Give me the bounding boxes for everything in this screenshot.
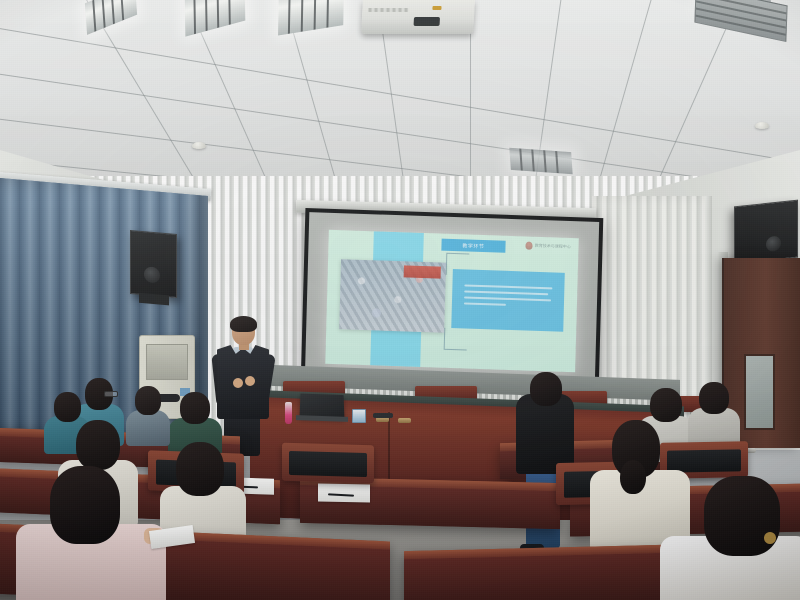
projector-indicator-light: [432, 6, 441, 10]
attendee-head: [704, 476, 780, 556]
podium-knob[interactable]: [398, 418, 411, 423]
speaker-cone: [144, 266, 160, 283]
attendee-glasses-icon: [104, 391, 118, 397]
slide-photo: [339, 260, 446, 333]
air-vent-grille: [694, 0, 787, 42]
projector-lens: [414, 17, 440, 26]
slide-logo-text: 教育技术与课程中心: [535, 243, 571, 250]
attendee-hair-accessory: [764, 532, 776, 544]
slide-text-line: [464, 302, 506, 305]
attendee-head: [699, 382, 729, 414]
presenter-jacket: [217, 345, 269, 419]
slide-connector-bottom: [443, 328, 467, 351]
presenter-right-hand: [245, 376, 255, 386]
screen-surface: 教学环节 教育技术与课程中心: [305, 212, 599, 390]
conference-room-photo: 教学环节 教育技术与课程中心: [0, 0, 800, 600]
slide-text-line: [465, 290, 549, 295]
chair[interactable]: [282, 443, 374, 484]
ceiling-projector: [361, 0, 475, 34]
slide-title-chip: 教学环节: [441, 239, 506, 253]
attendee-ponytail: [620, 460, 646, 494]
coffee-mug[interactable]: [352, 409, 366, 423]
handout-paper[interactable]: [318, 484, 370, 503]
attendee-front-left: [16, 472, 166, 600]
wall-speaker-left: [130, 230, 177, 298]
attendee-head: [650, 388, 682, 422]
slide-text-panel: [451, 269, 565, 332]
wall-conduit-pipe: [705, 196, 712, 406]
smoke-detector-left: [192, 142, 206, 149]
slide-text-line: [465, 284, 552, 289]
recessed-louver-light-2: [185, 0, 246, 37]
recessed-louver-light-4: [509, 148, 572, 174]
speaker-cone: [766, 235, 781, 252]
attendee-head: [530, 372, 562, 406]
attendee-head: [54, 392, 81, 422]
slide-photo-banner: [403, 265, 441, 278]
attendee-head: [176, 442, 224, 496]
wall-speaker-right: [734, 200, 798, 265]
attendee-head: [76, 420, 120, 470]
projection-screen[interactable]: 教学环节 教育技术与课程中心: [301, 208, 604, 394]
attendee-head: [180, 392, 210, 424]
ac-grille: [146, 344, 188, 380]
recessed-louver-light-1: [85, 0, 137, 35]
attendee-head: [135, 386, 161, 415]
smoke-detector-right: [755, 122, 769, 129]
water-bottle[interactable]: [285, 402, 292, 424]
slide-logo: 教育技术与课程中心: [526, 242, 571, 252]
projector-vent: [368, 8, 408, 12]
chair-backrest-pad: [289, 451, 366, 477]
attendee-head: [50, 466, 120, 544]
attendee-far-right: [660, 484, 800, 600]
presentation-slide: 教学环节 教育技术与课程中心: [326, 230, 579, 373]
attendee-right-darkhair: [688, 382, 740, 448]
door-glass-panel: [744, 354, 775, 430]
recessed-louver-light-3: [278, 0, 344, 35]
presenter-left-hand: [233, 378, 243, 388]
slide-title-text: 教学环节: [462, 242, 484, 250]
presenter-hair: [230, 316, 257, 332]
presenter: [214, 318, 272, 454]
microphone-base[interactable]: [373, 413, 393, 418]
logo-mark-icon: [526, 242, 533, 250]
slide-text-line: [465, 296, 551, 301]
